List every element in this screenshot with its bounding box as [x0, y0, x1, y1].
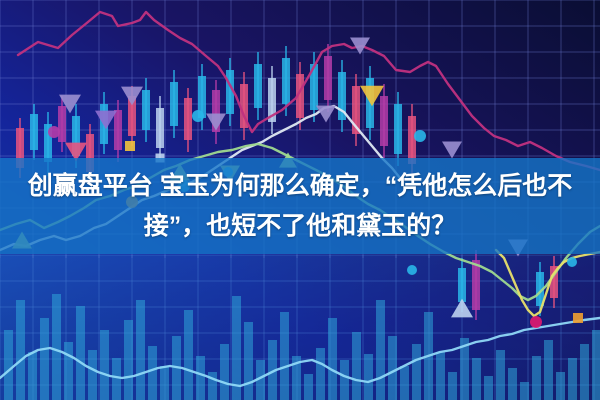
banner-image: 创赢盘平台 宝玉为何那么确定，“凭他怎么后也不接”，也短不了他和黛玉的？	[0, 0, 600, 400]
headline-line-1: 创赢盘平台 宝玉为何那么确定，“凭他怎么后也不	[6, 166, 594, 206]
headline-overlay-band: 创赢盘平台 宝玉为何那么确定，“凭他怎么后也不接”，也短不了他和黛玉的？	[0, 158, 600, 254]
headline-text: 创赢盘平台 宝玉为何那么确定，“凭他怎么后也不接”，也短不了他和黛玉的？	[0, 166, 600, 246]
headline-line-2: 接”，也短不了他和黛玉的？	[6, 206, 594, 246]
